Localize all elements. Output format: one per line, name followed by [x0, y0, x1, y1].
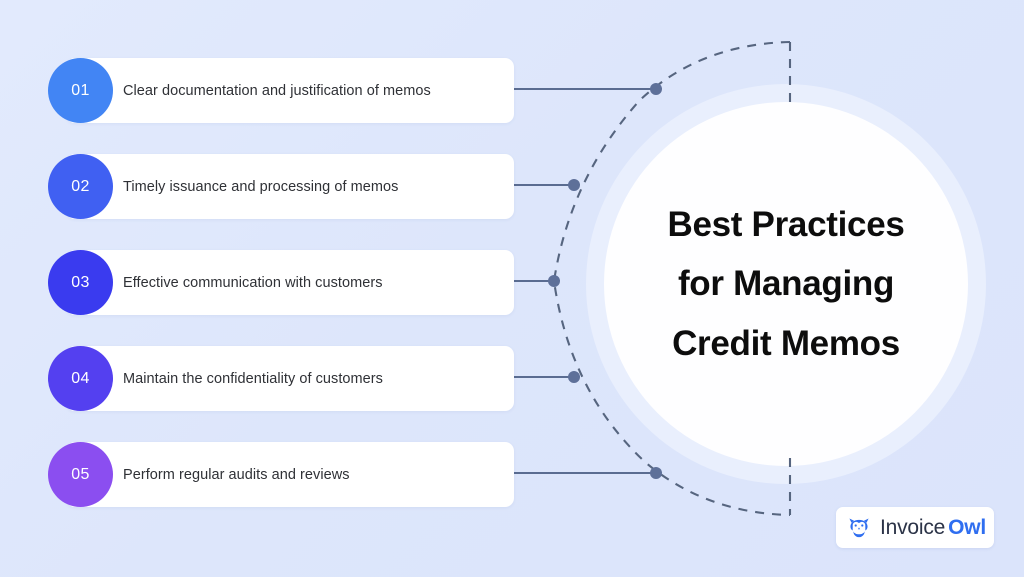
practice-label: Effective communication with customers — [123, 250, 383, 315]
owl-icon — [847, 516, 871, 540]
connector-dot-1 — [650, 83, 662, 95]
brand-word-owl: Owl — [948, 516, 986, 539]
step-badge: 03 — [48, 250, 113, 315]
step-badge: 01 — [48, 58, 113, 123]
step-badge: 05 — [48, 442, 113, 507]
connector-dot-4 — [568, 371, 580, 383]
connector-dot-2 — [568, 179, 580, 191]
infographic-canvas: Best Practices for Managing Credit Memos… — [0, 0, 1024, 577]
practice-label: Clear documentation and justification of… — [123, 58, 431, 123]
practice-list: Clear documentation and justification of… — [48, 58, 514, 538]
practice-label: Perform regular audits and reviews — [123, 442, 350, 507]
step-badge: 04 — [48, 346, 113, 411]
connector-dot-3 — [548, 275, 560, 287]
practice-label: Maintain the confidentiality of customer… — [123, 346, 383, 411]
brand-logo[interactable]: InvoiceOwl — [836, 507, 994, 548]
list-item[interactable]: Perform regular audits and reviews 05 — [48, 442, 514, 507]
brand-wordmark: InvoiceOwl — [880, 516, 986, 540]
list-item[interactable]: Clear documentation and justification of… — [48, 58, 514, 123]
brand-word-invoice: Invoice — [880, 516, 945, 539]
page-title-line-2: for Managing — [678, 254, 894, 314]
list-item[interactable]: Effective communication with customers 0… — [48, 250, 514, 315]
page-title-line-1: Best Practices — [667, 195, 904, 255]
page-title: Best Practices for Managing Credit Memos — [604, 102, 968, 466]
list-item[interactable]: Timely issuance and processing of memos … — [48, 154, 514, 219]
practice-label: Timely issuance and processing of memos — [123, 154, 398, 219]
connector-dot-5 — [650, 467, 662, 479]
list-item[interactable]: Maintain the confidentiality of customer… — [48, 346, 514, 411]
step-badge: 02 — [48, 154, 113, 219]
page-title-line-3: Credit Memos — [672, 314, 900, 374]
